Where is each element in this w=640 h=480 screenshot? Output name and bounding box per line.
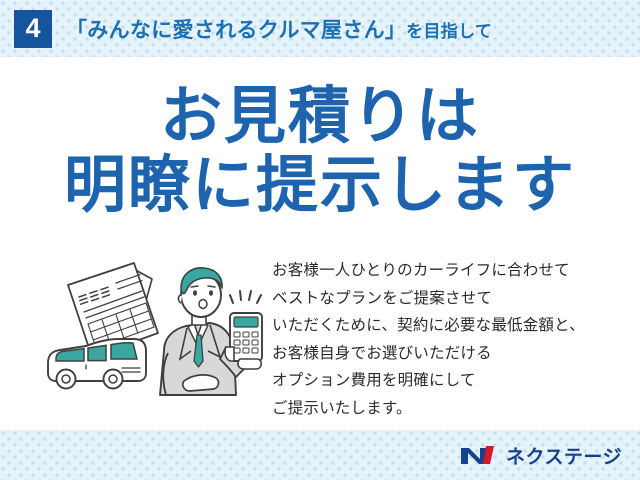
headline-line-2: 明瞭に提示します (0, 151, 640, 220)
headline: お見積りは 明瞭に提示します (0, 82, 640, 221)
description-line: オプション費用を明確にして (272, 367, 628, 395)
illustration-salesman-quote-van (34, 255, 274, 415)
van-illustration (48, 339, 146, 389)
description-line: いただくために、契約に必要な最低金額と、 (272, 312, 628, 340)
header-title-suffix: を目指して (406, 22, 492, 41)
description-line: ご提示いたします。 (272, 395, 628, 423)
footer-bar: ネクステージ (0, 430, 640, 480)
description-line: ベストなプランをご提案させて (272, 285, 628, 313)
header-step-badge: 4 (14, 10, 52, 48)
header-title: 「みんなに愛されるクルマ屋さん」を目指して (66, 14, 492, 44)
promotional-banner: 4 「みんなに愛されるクルマ屋さん」を目指して お見積りは 明瞭に提示します お… (0, 0, 640, 480)
content-area: お見積りは 明瞭に提示します お客様一人ひとりのカーライフに合わせて ベストなプ… (0, 57, 640, 430)
description-line: お客様自身でお選びいただける (272, 340, 628, 368)
sparkle-icon (230, 291, 261, 303)
headline-line-1: お見積りは (0, 82, 640, 151)
nextage-logo-mark (459, 442, 499, 468)
header-title-quoted: 「みんなに愛されるクルマ屋さん」 (66, 19, 406, 42)
nextage-logo: ネクステージ (459, 442, 622, 469)
nextage-logo-text: ネクステージ (506, 442, 622, 469)
header-bar: 4 「みんなに愛されるクルマ屋さん」を目指して (0, 0, 640, 57)
description-line: お客様一人ひとりのカーライフに合わせて (272, 257, 628, 285)
calculator-icon (225, 313, 262, 369)
description-paragraph: お客様一人ひとりのカーライフに合わせて ベストなプランをご提案させて いただくた… (272, 257, 628, 422)
